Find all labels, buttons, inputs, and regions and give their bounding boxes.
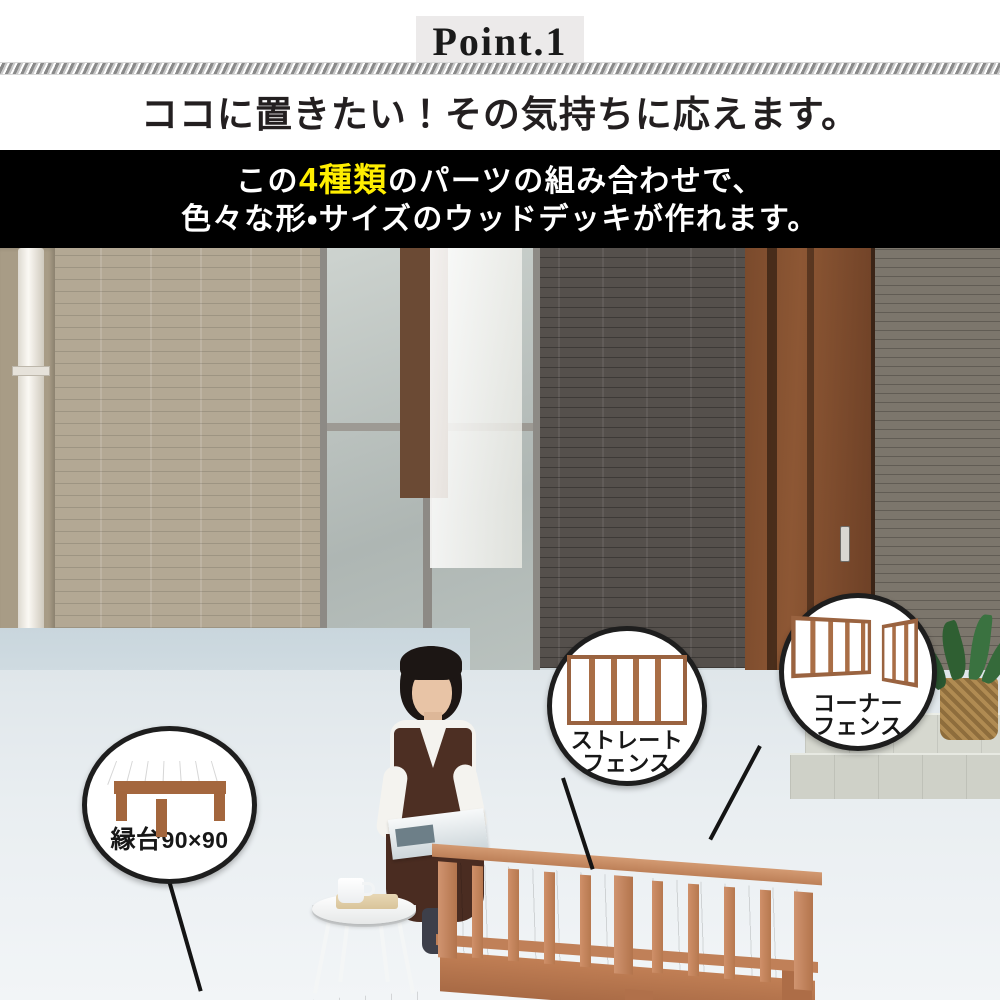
wicker-planter xyxy=(940,678,998,740)
fence-baluster xyxy=(652,881,663,974)
callout-straight-fence[interactable]: ストレート フェンス xyxy=(547,626,707,786)
striped-divider xyxy=(0,62,1000,75)
banner-text-after: のパーツの組み合わせで、 xyxy=(388,165,764,198)
banner-text-before: この xyxy=(236,165,299,198)
fence-baluster xyxy=(472,866,483,959)
side-table-legs xyxy=(316,920,412,1000)
corner-fence-icon xyxy=(792,618,924,690)
callout-engawa[interactable]: 縁台90×90 xyxy=(82,726,257,884)
downspout-bracket-1 xyxy=(12,366,50,376)
coffee-mug xyxy=(338,878,364,903)
callout-label-line2: フェンス xyxy=(813,715,903,738)
fence-post-mid xyxy=(614,875,633,974)
product-photo-scene: 縁台90×90 ストレート フェンス コーナー フェンス xyxy=(0,248,1000,1000)
page-header: Point.1 ココに置きたい！その気持ちに応えます。 xyxy=(0,0,1000,150)
deck-leg-center xyxy=(625,989,653,1000)
fence-baluster xyxy=(580,875,591,968)
callout-label-size: 90×90 xyxy=(161,827,228,853)
fence-baluster xyxy=(760,890,771,983)
callout-label-line1: コーナー xyxy=(813,692,903,715)
callout-label-main: 縁台 xyxy=(110,826,161,854)
promo-banner: この4種類のパーツの組み合わせで、 色々な形・サイズのウッドデッキが作れます。 xyxy=(0,150,1000,248)
deck-platform-icon xyxy=(100,747,240,825)
callout-label: 縁台90×90 xyxy=(110,827,228,854)
callout-label-line2: フェンス xyxy=(571,752,684,775)
advertisement-page: Point.1 ココに置きたい！その気持ちに応えます。 この4種類のパーツの組み… xyxy=(0,0,1000,1000)
fence-baluster xyxy=(544,872,555,965)
fence-post-left xyxy=(438,861,457,958)
fence-baluster xyxy=(724,887,735,980)
banner-line-1: この4種類のパーツの組み合わせで、 xyxy=(236,159,764,201)
callout-label: コーナー フェンス xyxy=(813,692,903,739)
fence-baluster xyxy=(508,869,519,962)
banner-highlight: 4種類 xyxy=(299,161,388,198)
white-curtain xyxy=(430,248,522,568)
page-title: ココに置きたい！その気持ちに応えます。 xyxy=(0,84,1000,138)
concrete-step-lower xyxy=(790,753,1000,799)
straight-fence-icon xyxy=(567,655,687,725)
callout-label-line1: ストレート xyxy=(571,729,684,752)
fence-post-right xyxy=(794,891,813,990)
hair-front xyxy=(400,646,462,680)
callout-corner-fence[interactable]: コーナー フェンス xyxy=(779,593,937,751)
door-handle xyxy=(840,526,850,562)
callout-label: ストレート フェンス xyxy=(571,729,684,776)
fence-baluster xyxy=(688,884,699,977)
door-panel-line-1 xyxy=(767,248,777,678)
banner-line-2: 色々な形・サイズのウッドデッキが作れます。 xyxy=(181,201,819,239)
